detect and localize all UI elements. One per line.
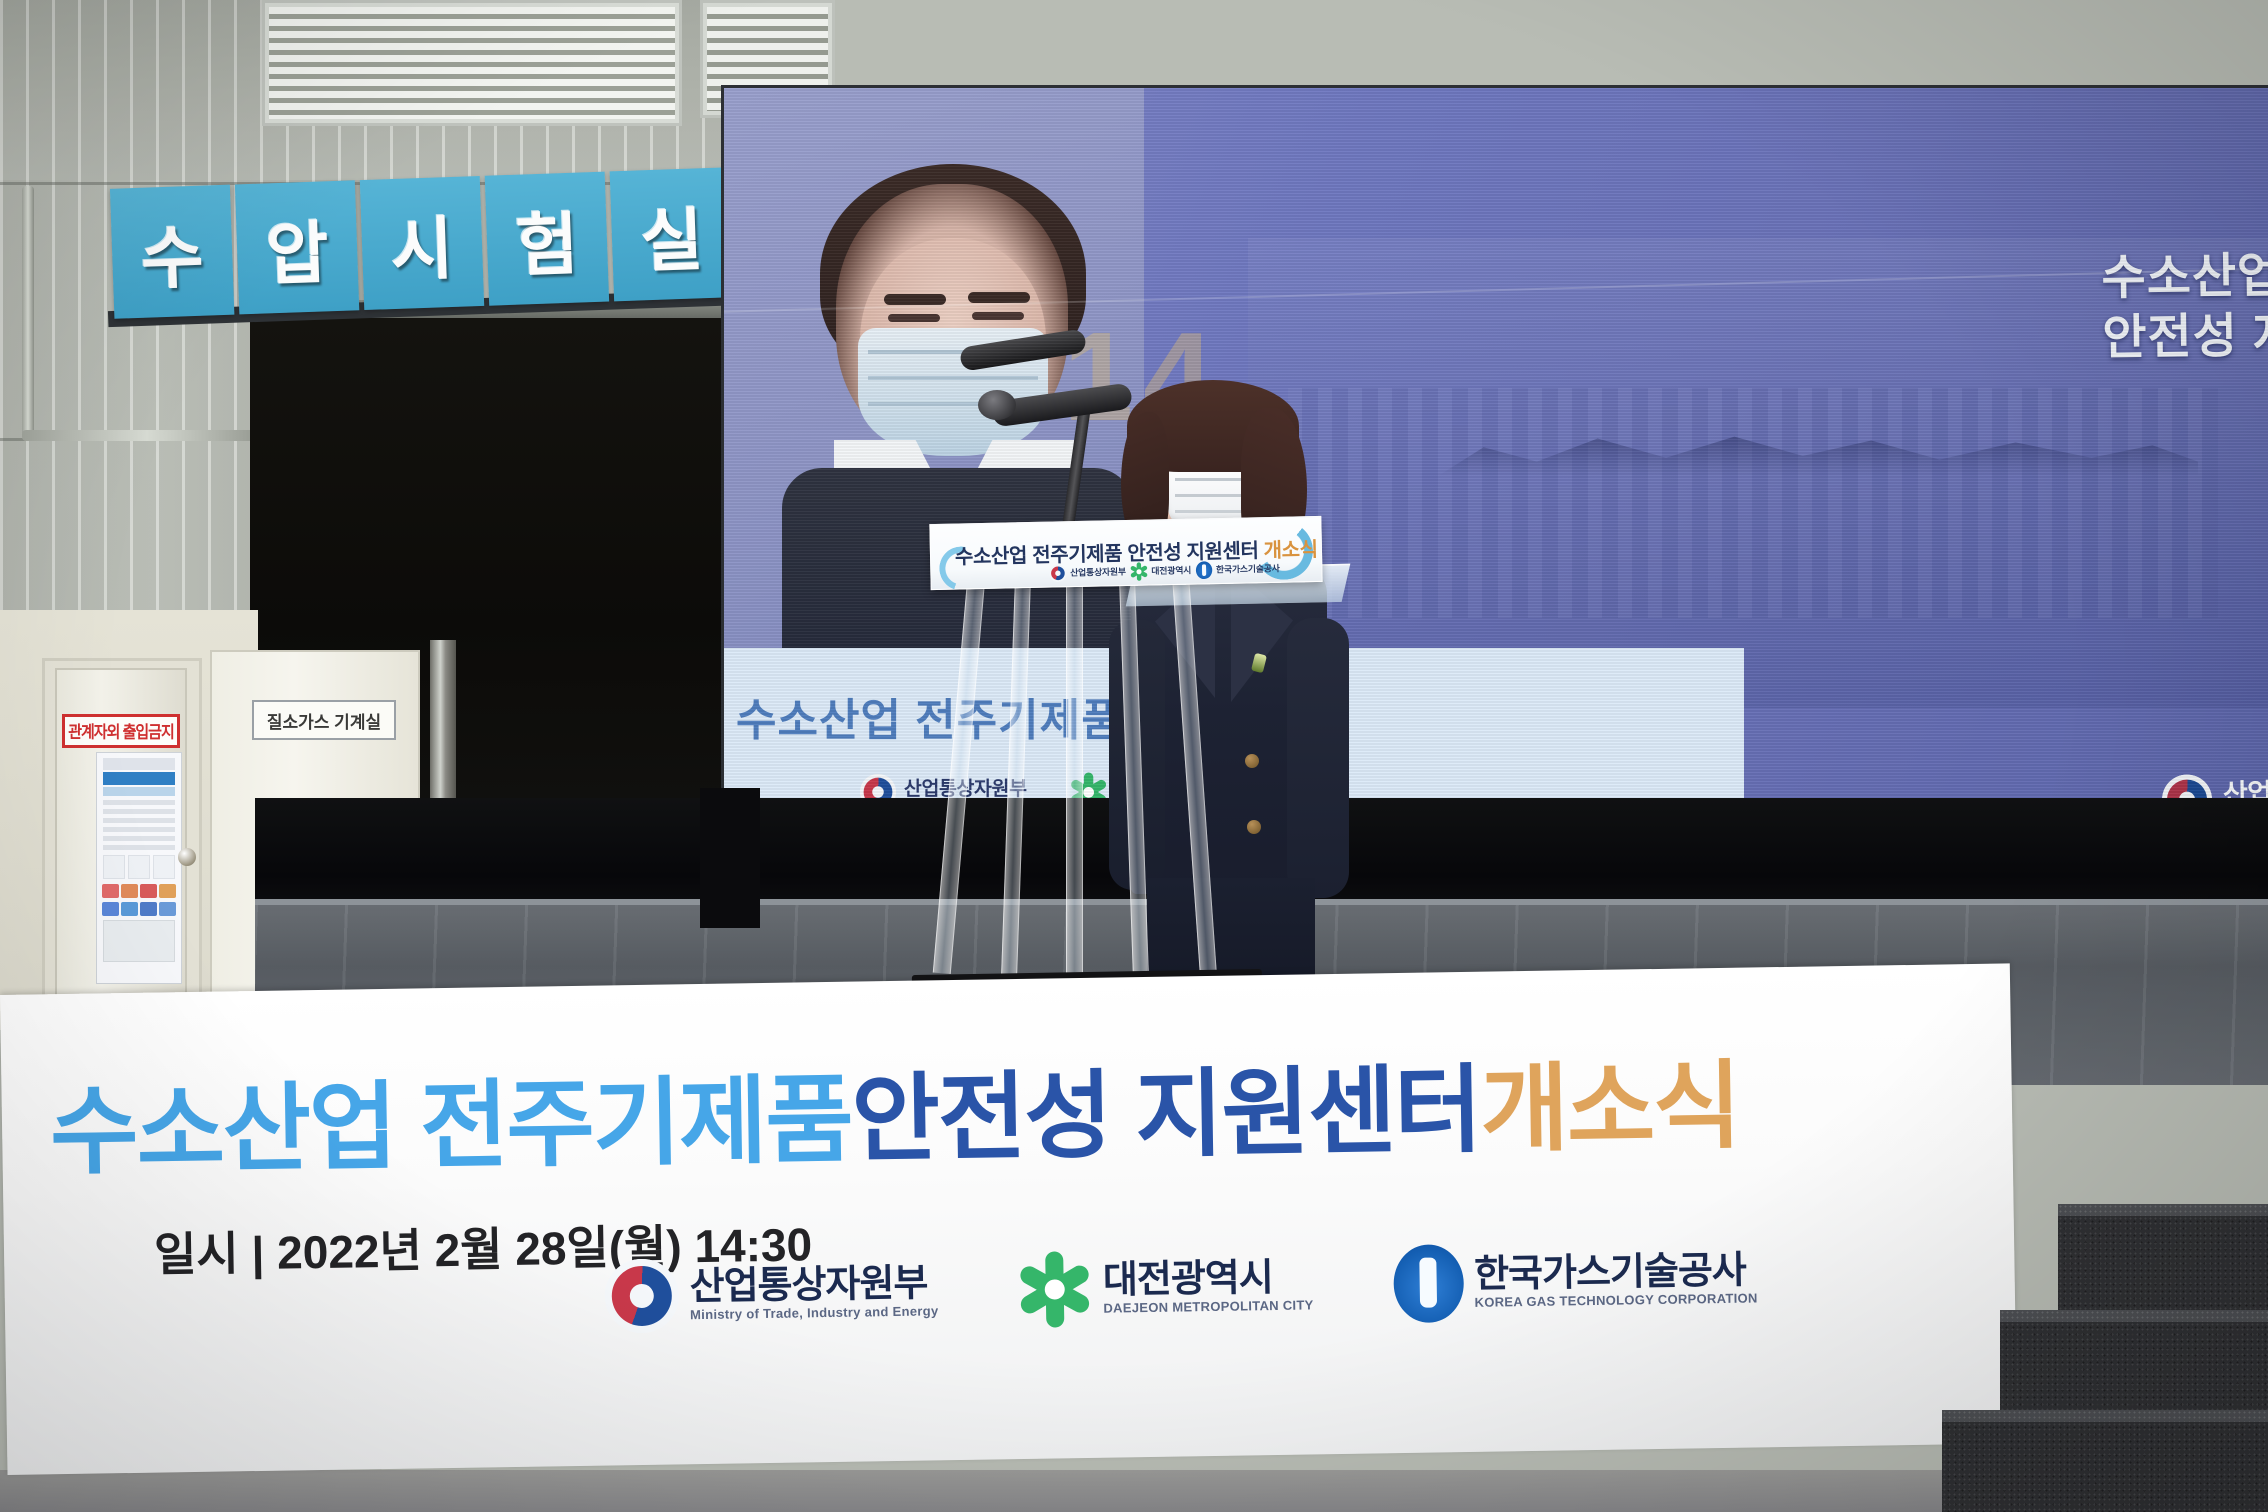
podium-logo-kogas: 한국가스기술공사 <box>1196 560 1280 579</box>
podium-logo-daejeon-ko: 대전광역시 <box>1151 566 1191 576</box>
main-banner: 수소산업 전주기제품 안전성 지원센터 개소식 일시 | 2022년 2월 28… <box>0 963 2017 1475</box>
sign-panel-1: 수 <box>110 185 234 319</box>
nitrogen-room-sign: 질소가스 기계실 <box>252 700 396 740</box>
stage-steps <box>1938 1112 2268 1512</box>
sign-panel-4: 험 <box>485 172 609 306</box>
podium-logo-daejeon: 대전광역시 <box>1130 562 1191 580</box>
banner-title-part-3: 개소식 <box>1479 1028 1740 1171</box>
sign-panel-3: 시 <box>360 176 484 310</box>
podium-logo-kogas-ko: 한국가스기술공사 <box>1216 564 1280 575</box>
daejeon-flower-icon <box>1018 1252 1093 1327</box>
notice-cell-grid <box>103 855 175 879</box>
notice-text-rows <box>103 800 175 850</box>
microphone-icon <box>978 390 1016 420</box>
building-name-sign: 수 압 시 험 실 <box>110 167 734 319</box>
sign-char-5: 실 <box>639 184 705 285</box>
banner-logo-motie: 산업통상자원부 Ministry of Trade, Industry and … <box>604 1254 938 1333</box>
nitrogen-room-label: 질소가스 기계실 <box>267 708 381 733</box>
podium-leg <box>1119 578 1149 978</box>
notice-photo <box>103 920 175 962</box>
taeguk-circle-icon <box>604 1258 679 1333</box>
banner-logo-row: 산업통상자원부 Ministry of Trade, Industry and … <box>604 1239 1758 1335</box>
notice-hazard-icons <box>102 884 176 898</box>
sign-panel-5: 실 <box>610 167 734 301</box>
podium-sign-gold: 개소식 <box>1263 539 1317 562</box>
podium-glass-body <box>930 578 1320 1008</box>
photo-scene: 수 압 시 험 실 관계자외 출입금지 질소가스 기계실 2 14 <box>0 0 2268 1512</box>
podium-front-sign: 수소산업 전주기제품 안전성 지원센터 개소식 산업통상자원부 대전광역시 한국… <box>929 516 1322 590</box>
speaker-cabinet <box>700 788 760 928</box>
podium: 수소산업 전주기제품 안전성 지원센터 개소식 산업통상자원부 대전광역시 한국… <box>930 520 1320 1008</box>
banner-logo-kogas-ko: 한국가스기술공사 <box>1474 1252 1758 1296</box>
banner-logo-kogas-en: KOREA GAS TECHNOLOGY CORPORATION <box>1474 1291 1757 1309</box>
vent-slats-icon <box>269 7 675 119</box>
notice-title-bar <box>103 772 175 785</box>
sign-panel-2: 압 <box>235 180 359 314</box>
banner-title-part-2: 안전성 지원센터 <box>850 1032 1481 1181</box>
daejeon-flower-icon <box>1130 563 1147 580</box>
restricted-access-label: 관계자외 출입금지 <box>68 719 174 742</box>
sign-char-1: 수 <box>139 201 205 302</box>
door-handle-icon[interactable] <box>178 848 196 866</box>
wall-pipe <box>22 430 272 441</box>
step-riser <box>2058 1216 2268 1316</box>
safety-notice-poster <box>96 752 182 984</box>
banner-logo-kogas: 한국가스기술공사 KOREA GAS TECHNOLOGY CORPORATIO… <box>1393 1239 1758 1323</box>
taeguk-circle-icon <box>1049 565 1066 582</box>
sign-char-4: 험 <box>514 188 580 289</box>
kogas-flame-icon <box>1196 561 1213 579</box>
banner-logo-motie-ko: 산업통상자원부 <box>689 1265 938 1308</box>
banner-logo-daejeon-en: DAEJEON METROPOLITAN CITY <box>1103 1298 1313 1315</box>
podium-leg <box>1001 578 1031 978</box>
wall-pipe <box>22 186 34 436</box>
ground <box>0 1470 2268 1512</box>
podium-leg <box>1172 578 1217 974</box>
banner-logo-daejeon-ko: 대전광역시 <box>1103 1259 1314 1302</box>
banner-logo-daejeon: 대전광역시 DAEJEON METROPOLITAN CITY <box>1018 1248 1314 1327</box>
step-riser <box>1942 1422 2268 1512</box>
notice-header <box>103 758 175 770</box>
notice-ppe-icons <box>102 902 176 916</box>
step-riser <box>2000 1322 2268 1416</box>
podium-leg <box>1066 578 1083 980</box>
restricted-access-sign: 관계자외 출입금지 <box>62 714 180 748</box>
sign-char-3: 시 <box>389 192 455 293</box>
podium-leg <box>933 578 985 974</box>
banner-title: 수소산업 전주기제품 안전성 지원센터 개소식 <box>49 1028 1740 1194</box>
notice-subtitle-bar <box>103 787 175 796</box>
banner-logo-motie-en: Ministry of Trade, Industry and Energy <box>690 1304 939 1321</box>
banner-title-part-1: 수소산업 전주기제품 <box>49 1042 853 1194</box>
louvre-vent <box>262 0 682 126</box>
podium-logo-row: 산업통상자원부 대전광역시 한국가스기술공사 <box>1049 560 1280 582</box>
podium-logo-motie-ko: 산업통상자원부 <box>1070 567 1126 577</box>
kogas-flame-icon <box>1393 1244 1464 1323</box>
podium-logo-motie: 산업통상자원부 <box>1049 563 1126 582</box>
sign-char-2: 압 <box>264 197 330 298</box>
